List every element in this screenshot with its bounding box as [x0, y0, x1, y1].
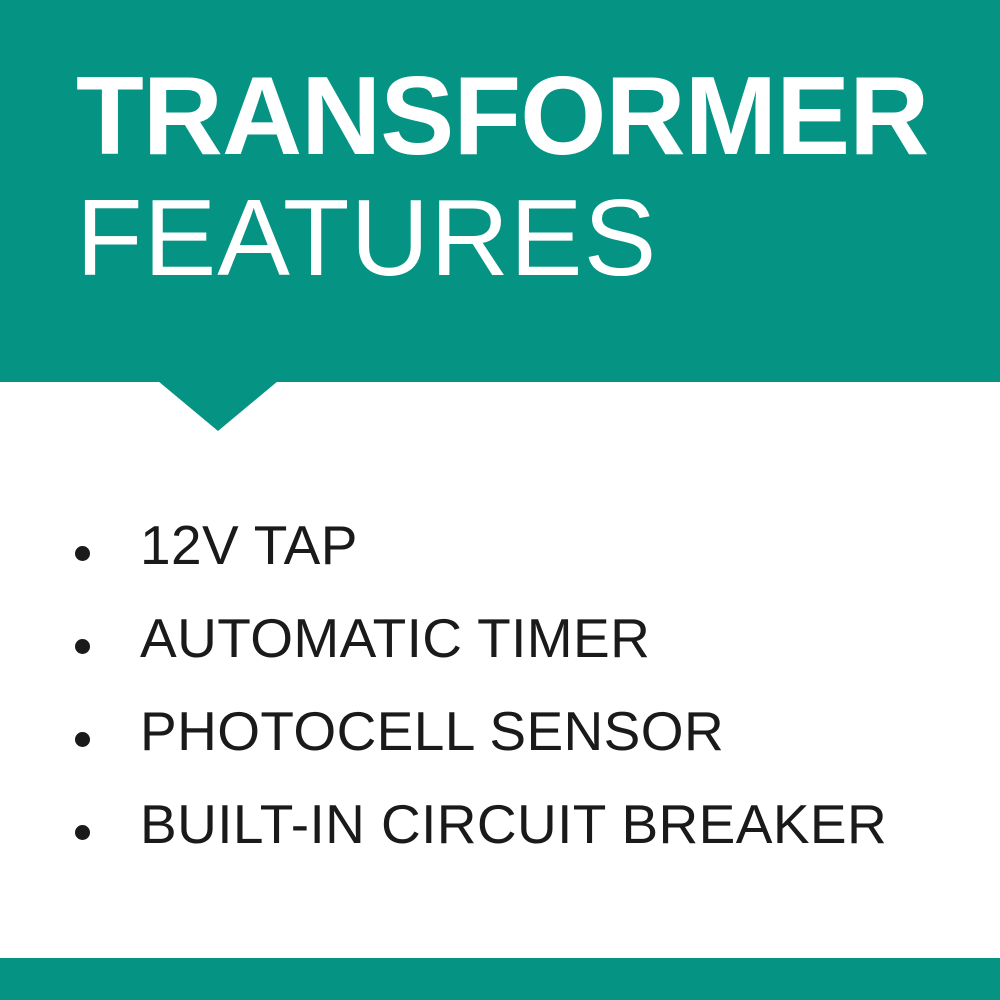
bullet-dot-icon — [75, 546, 90, 561]
title-line-secondary: FEATURES — [76, 172, 956, 304]
feature-label: 12V TAP — [140, 516, 358, 574]
title-line-primary: TRANSFORMER — [76, 60, 956, 172]
bullet-dot-icon — [75, 639, 90, 654]
bullet-dot-icon — [75, 825, 90, 840]
bullet-dot-icon — [75, 732, 90, 747]
list-item: BUILT-IN CIRCUIT BREAKER — [0, 795, 1000, 888]
feature-label: AUTOMATIC TIMER — [140, 609, 650, 667]
list-item: AUTOMATIC TIMER — [0, 609, 1000, 702]
footer-accent-bar — [0, 958, 1000, 1000]
list-item: 12V TAP — [0, 516, 1000, 609]
page-title: TRANSFORMER FEATURES — [76, 60, 956, 304]
list-item: PHOTOCELL SENSOR — [0, 702, 1000, 795]
header-banner: TRANSFORMER FEATURES — [0, 0, 1000, 382]
feature-label: BUILT-IN CIRCUIT BREAKER — [140, 795, 887, 853]
feature-list: 12V TAP AUTOMATIC TIMER PHOTOCELL SENSOR… — [0, 516, 1000, 888]
feature-label: PHOTOCELL SENSOR — [140, 702, 724, 760]
feature-card: TRANSFORMER FEATURES 12V TAP AUTOMATIC T… — [0, 0, 1000, 1000]
downward-triangle-pointer-icon — [158, 381, 278, 431]
